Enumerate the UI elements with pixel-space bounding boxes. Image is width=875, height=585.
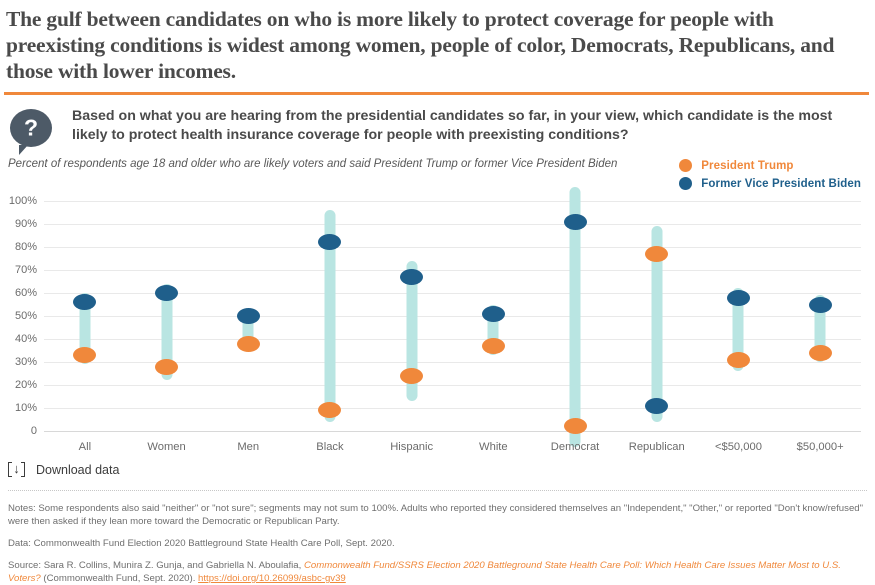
question-mark-glyph: ?	[10, 115, 52, 142]
data-point-trump[interactable]	[645, 246, 668, 262]
y-axis-tick-label: 30%	[15, 356, 37, 368]
accent-divider	[4, 92, 869, 95]
chart-subtitle: Percent of respondents age 18 and older …	[8, 157, 617, 171]
source-text: Source: Sara R. Collins, Munira Z. Gunja…	[8, 559, 867, 585]
data-point-trump[interactable]	[809, 345, 832, 361]
page-title: The gulf between candidates on who is mo…	[0, 0, 875, 84]
data-point-biden[interactable]	[809, 297, 832, 313]
plot-region: 010%20%30%40%50%60%70%80%90%100%	[44, 201, 861, 431]
legend-label-trump: President Trump	[701, 160, 793, 172]
question-block: ? Based on what you are hearing from the…	[10, 107, 869, 147]
legend-item-biden[interactable]: Former Vice President Biden	[679, 177, 861, 190]
download-icon: ↓	[8, 461, 25, 478]
source-doi-link[interactable]: https://doi.org/10.26099/asbc-gv39	[198, 573, 346, 584]
y-axis-tick-label: 60%	[15, 287, 37, 299]
x-axis-tick-label: Republican	[629, 441, 685, 453]
chart-legend: President Trump Former Vice President Bi…	[679, 159, 861, 195]
x-axis-tick-label: <$50,000	[715, 441, 762, 453]
x-axis-tick-label: All	[79, 441, 91, 453]
gridline	[44, 408, 861, 409]
notes-text: Notes: Some respondents also said "neith…	[8, 502, 867, 528]
legend-dot-trump	[679, 159, 692, 172]
gridline	[44, 270, 861, 271]
chart-area: 010%20%30%40%50%60%70%80%90%100% AllWome…	[8, 201, 861, 453]
data-point-biden[interactable]	[727, 290, 750, 306]
question-mark-icon: ?	[10, 109, 52, 147]
gridline	[44, 431, 861, 432]
x-axis-tick-label: White	[479, 441, 508, 453]
download-arrow-glyph: ↓	[13, 461, 20, 476]
gridline	[44, 224, 861, 225]
legend-dot-biden	[679, 177, 692, 190]
question-text: Based on what you are hearing from the p…	[72, 107, 862, 145]
footer-notes: Notes: Some respondents also said "neith…	[8, 502, 867, 585]
data-point-biden[interactable]	[73, 294, 96, 310]
data-point-trump[interactable]	[400, 368, 423, 384]
legend-label-biden: Former Vice President Biden	[701, 178, 861, 190]
data-point-trump[interactable]	[73, 347, 96, 363]
y-axis-tick-label: 10%	[15, 402, 37, 414]
data-point-biden[interactable]	[645, 398, 668, 414]
data-point-trump[interactable]	[155, 359, 178, 375]
gridline	[44, 247, 861, 248]
data-point-trump[interactable]	[564, 418, 587, 434]
data-point-trump[interactable]	[727, 352, 750, 368]
y-axis-tick-label: 50%	[15, 310, 37, 322]
y-axis-tick-label: 40%	[15, 333, 37, 345]
data-point-biden[interactable]	[564, 214, 587, 230]
download-data-label: Download data	[36, 463, 119, 477]
y-axis-tick-label: 0	[31, 425, 37, 437]
download-data-button[interactable]: ↓ Download data	[8, 461, 875, 478]
x-axis-tick-label: Democrat	[551, 441, 600, 453]
x-axis-tick-label: Hispanic	[390, 441, 433, 453]
data-point-biden[interactable]	[482, 306, 505, 322]
y-axis-tick-label: 20%	[15, 379, 37, 391]
data-point-trump[interactable]	[237, 336, 260, 352]
x-axis-tick-label: Men	[237, 441, 259, 453]
gridline	[44, 201, 861, 202]
y-axis-tick-label: 70%	[15, 264, 37, 276]
source-mid: (Commonwealth Fund, Sept. 2020).	[41, 573, 198, 584]
data-text: Data: Commonwealth Fund Election 2020 Ba…	[8, 537, 867, 550]
data-point-trump[interactable]	[318, 402, 341, 418]
data-point-biden[interactable]	[155, 285, 178, 301]
y-axis-tick-label: 90%	[15, 218, 37, 230]
y-axis-tick-label: 80%	[15, 241, 37, 253]
gridline	[44, 385, 861, 386]
footer-divider	[8, 490, 867, 491]
data-point-trump[interactable]	[482, 338, 505, 354]
y-axis-tick-label: 100%	[9, 195, 37, 207]
x-axis-tick-label: $50,000+	[797, 441, 844, 453]
x-axis-tick-label: Black	[316, 441, 343, 453]
x-axis-tick-label: Women	[147, 441, 185, 453]
data-point-biden[interactable]	[400, 269, 423, 285]
data-point-biden[interactable]	[237, 308, 260, 324]
legend-item-trump[interactable]: President Trump	[679, 159, 861, 172]
